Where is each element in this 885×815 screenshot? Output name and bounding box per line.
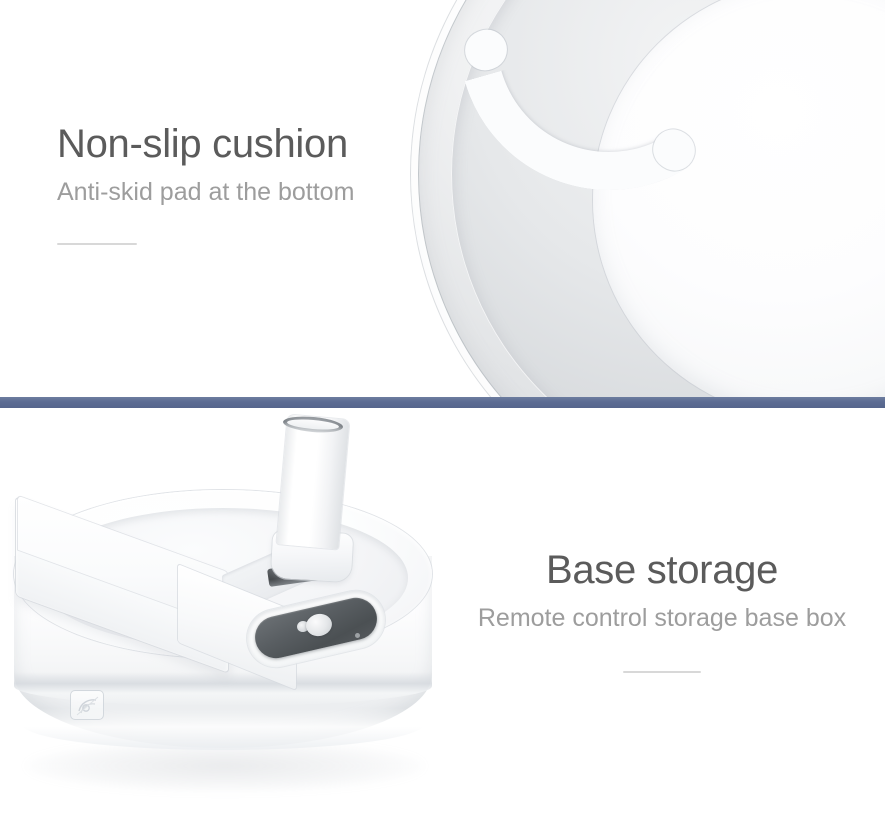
caption-base-storage: Base storage Remote control storage base… xyxy=(452,548,872,673)
embossed-badge-icon xyxy=(70,690,104,720)
headline-non-slip-cushion: Non-slip cushion xyxy=(57,122,487,168)
headline-base-storage: Base storage xyxy=(452,548,872,594)
telescopic-pole xyxy=(276,415,349,550)
caption-rule-top xyxy=(57,243,137,245)
product-feature-page: Non-slip cushion Anti-skid pad at the bo… xyxy=(0,0,885,815)
section-divider-band xyxy=(0,397,885,408)
caption-rule-bottom xyxy=(623,671,701,673)
subline-base-storage: Remote control storage base box xyxy=(452,603,872,633)
fan-emblem-icon xyxy=(74,693,102,719)
remote-indicator-dot xyxy=(355,633,360,638)
section-non-slip-cushion: Non-slip cushion Anti-skid pad at the bo… xyxy=(0,0,885,398)
subline-non-slip-cushion: Anti-skid pad at the bottom xyxy=(57,177,487,207)
caption-non-slip-cushion: Non-slip cushion Anti-skid pad at the bo… xyxy=(57,122,487,245)
